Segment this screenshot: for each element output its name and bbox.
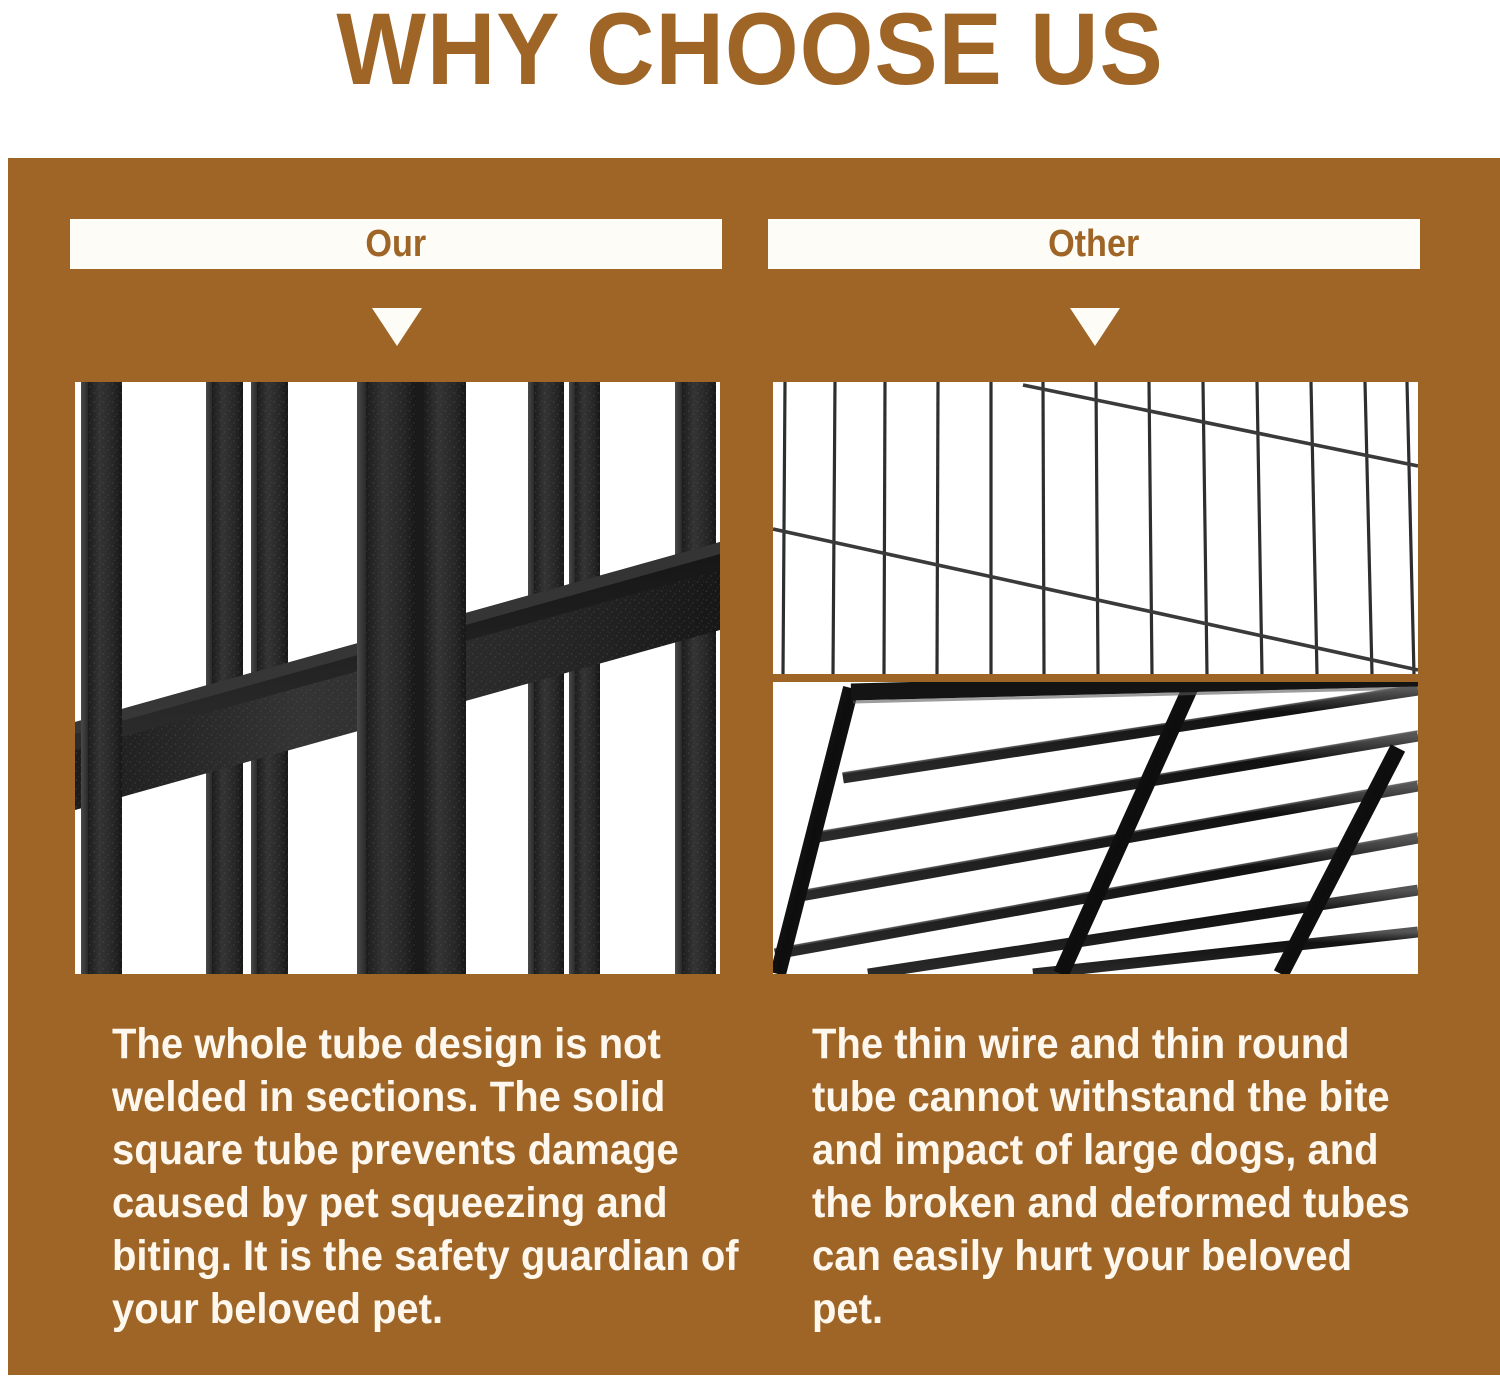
down-triangle-icon-other: [1070, 308, 1120, 346]
square-tube-illustration: [75, 382, 720, 974]
infographic-page: WHY CHOOSE US Our Other: [0, 0, 1500, 1381]
column-header-our: Our: [70, 219, 722, 269]
column-label-our: Our: [366, 224, 427, 264]
thin-round-tube-panel: [773, 682, 1418, 974]
column-header-other: Other: [768, 219, 1420, 269]
caption-other: The thin wire and thin round tube cannot…: [812, 1018, 1426, 1336]
down-triangle-icon-our: [372, 308, 422, 346]
column-label-other: Other: [1048, 224, 1139, 264]
wire-mesh-illustration: [773, 382, 1418, 674]
caption-our: The whole tube design is not welded in s…: [112, 1018, 744, 1336]
square-tube-fence-closeup: [75, 382, 720, 974]
thin-wire-mesh-closeup: [773, 382, 1418, 674]
page-title: WHY CHOOSE US: [53, 0, 1448, 104]
round-tube-illustration: [773, 682, 1418, 974]
